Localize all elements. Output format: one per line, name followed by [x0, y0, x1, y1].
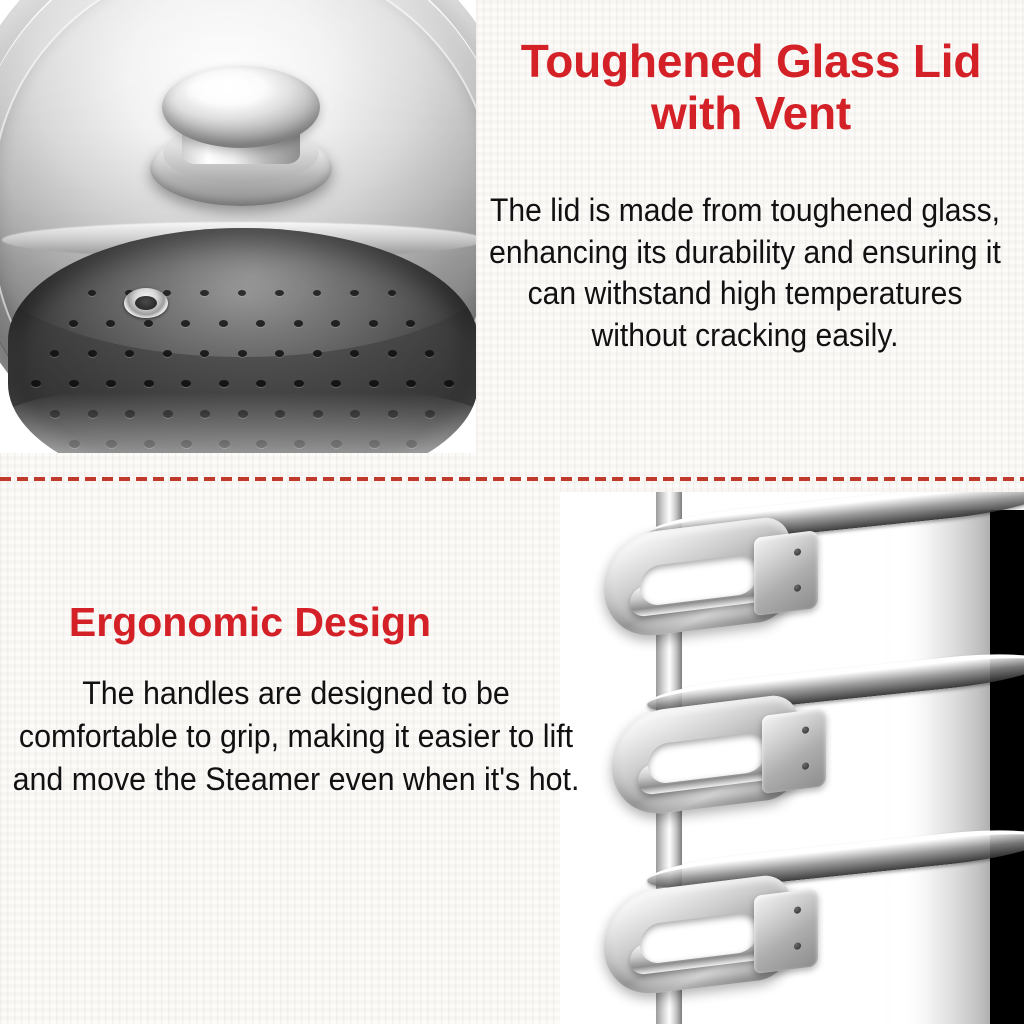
basket-perforation: [200, 290, 209, 296]
pot-shadow-band: [990, 510, 1024, 1024]
handle-mount-plate: [762, 708, 826, 794]
rivet-icon: [802, 762, 809, 770]
infographic-canvas: Toughened Glass Lid with Vent The lid is…: [0, 0, 1024, 1024]
pot-highlight: [878, 510, 932, 1024]
rivet-icon: [794, 942, 801, 950]
basket-perforation: [144, 380, 154, 387]
top-section-body: The lid is made from toughened glass, en…: [479, 190, 1011, 356]
basket-perforation: [369, 380, 379, 387]
basket-perforation: [388, 350, 397, 357]
basket-perforation: [350, 290, 359, 296]
steamer-handles-photo: [560, 492, 1024, 1024]
basket-perforation: [294, 320, 303, 327]
knob-highlight: [186, 76, 278, 110]
basket-perforation: [106, 380, 116, 387]
basket-perforation: [256, 320, 265, 327]
basket-perforation: [256, 380, 266, 387]
steamer-lid-photo: [0, 0, 476, 453]
basket-perforation: [294, 380, 304, 387]
basket-perforation: [406, 380, 416, 387]
basket-perforation: [350, 350, 359, 357]
basket-perforation: [181, 320, 190, 327]
basket-perforation: [406, 320, 415, 327]
rivet-icon: [794, 906, 801, 914]
basket-perforation: [238, 350, 247, 357]
basket-perforation: [69, 320, 78, 327]
basket-perforation: [69, 380, 79, 387]
basket-perforation: [275, 350, 284, 357]
basket-lower-arc: [0, 392, 476, 453]
bottom-section-heading: Ergonomic Design: [0, 600, 500, 645]
basket-perforation: [275, 290, 284, 296]
pot-handle: [604, 526, 830, 644]
rivet-icon: [794, 548, 801, 556]
basket-perforation: [106, 320, 115, 327]
rivet-icon: [802, 726, 809, 734]
basket-perforation: [181, 380, 191, 387]
basket-perforation: [313, 350, 322, 357]
bottom-section-body: The handles are designed to be comfortab…: [2, 672, 591, 801]
handle-mount-plate: [754, 888, 818, 974]
top-heading-line-2: with Vent: [478, 88, 1024, 140]
basket-perforation: [50, 350, 59, 357]
basket-perforation: [219, 320, 228, 327]
basket-perforation: [31, 380, 41, 387]
top-section-heading: Toughened Glass Lid with Vent: [478, 36, 1024, 139]
pot-handle: [604, 884, 830, 1002]
basket-perforation: [425, 350, 434, 357]
basket-perforation: [88, 350, 97, 357]
basket-perforation: [369, 320, 378, 327]
basket-perforation: [444, 380, 454, 387]
basket-perforation: [163, 350, 172, 357]
section-divider: [0, 475, 1024, 483]
basket-perforation: [125, 350, 134, 357]
basket-perforation: [331, 320, 340, 327]
basket-perforation: [144, 320, 153, 327]
top-heading-line-1: Toughened Glass Lid: [478, 36, 1024, 88]
vent-eyelet-icon: [124, 288, 168, 318]
basket-perforation: [219, 380, 229, 387]
basket-perforation: [331, 380, 341, 387]
pot-handle: [612, 704, 838, 822]
handle-mount-plate: [754, 530, 818, 616]
rivet-icon: [794, 584, 801, 592]
